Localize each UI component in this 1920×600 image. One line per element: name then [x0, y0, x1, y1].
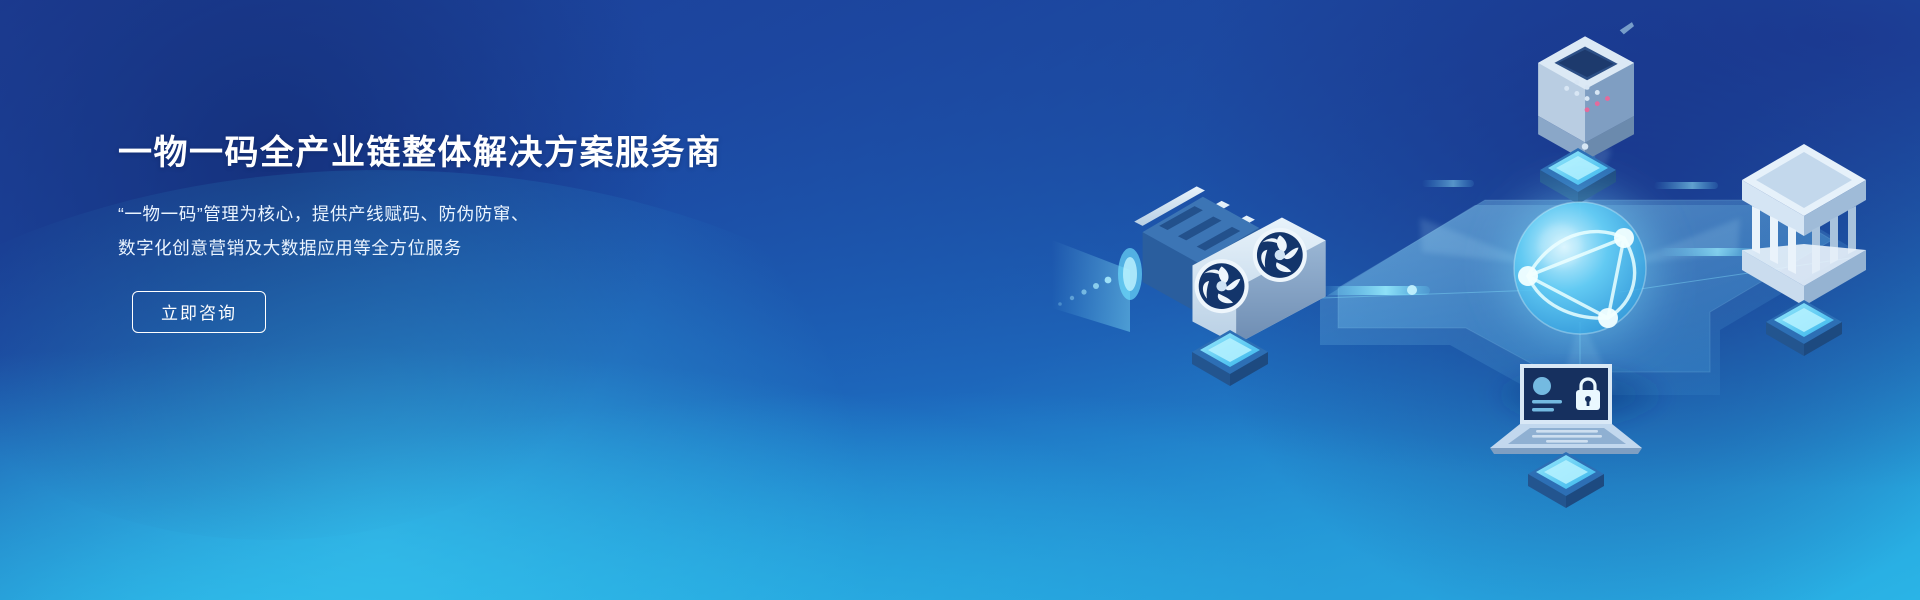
hero-banner: 一物一码全产业链整体解决方案服务商 “一物一码”管理为核心，提供产线赋码、防伪防…	[0, 0, 1920, 600]
subtitle-line-2: 数字化创意营销及大数据应用等全方位服务	[118, 231, 818, 265]
server-fan-unit-icon	[1134, 186, 1325, 344]
laptop-base-pad	[1528, 452, 1604, 508]
hero-subtitle: “一物一码”管理为核心，提供产线赋码、防伪防窜、 数字化创意营销及大数据应用等全…	[118, 197, 818, 265]
bank-base-pad	[1766, 300, 1842, 356]
page-title: 一物一码全产业链整体解决方案服务商	[118, 132, 818, 175]
subtitle-line-1: “一物一码”管理为核心，提供产线赋码、防伪防窜、	[118, 197, 818, 231]
hero-copy: 一物一码全产业链整体解决方案服务商 “一物一码”管理为核心，提供产线赋码、防伪防…	[118, 132, 818, 333]
scanner-beam-icon	[1052, 240, 1142, 332]
isometric-illustration	[1020, 0, 1920, 600]
consult-now-button[interactable]: 立即咨询	[132, 291, 266, 333]
server-base-pad	[1192, 330, 1268, 386]
